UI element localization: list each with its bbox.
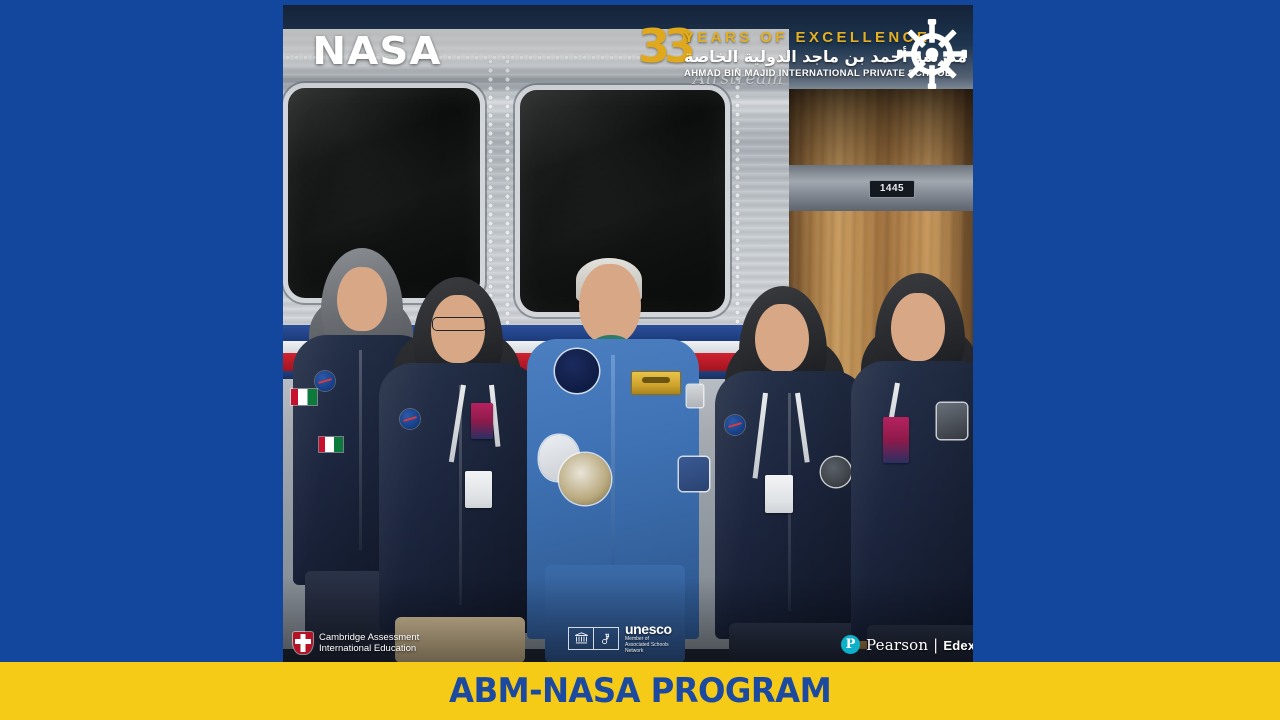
unesco-wordmark: unesco bbox=[625, 623, 672, 636]
ship-wheel-icon bbox=[897, 19, 967, 89]
id-badge bbox=[465, 471, 492, 508]
face bbox=[337, 267, 387, 331]
slide-canvas: 1445 Airstream bbox=[0, 0, 1280, 720]
cambridge-shield-icon bbox=[293, 632, 313, 654]
unesco-logo: unesco Member of Associated Schools Netw… bbox=[568, 623, 672, 654]
flag-patch bbox=[687, 385, 703, 407]
unesco-marks bbox=[568, 627, 619, 650]
conference-badge bbox=[471, 403, 493, 439]
mission-patch bbox=[555, 349, 599, 393]
face bbox=[579, 264, 641, 344]
anniversary-number: 33 bbox=[638, 25, 690, 67]
pearson-separator: | bbox=[933, 636, 938, 654]
conference-badge bbox=[883, 417, 909, 463]
mission-patch bbox=[559, 453, 611, 505]
nasa-meatball-patch bbox=[400, 409, 420, 429]
cambridge-assessment-logo: Cambridge Assessment International Educa… bbox=[293, 632, 419, 654]
program-title: ABM-NASA PROGRAM bbox=[449, 671, 831, 711]
face bbox=[755, 304, 809, 372]
pearson-qualification: Edexcel bbox=[943, 638, 973, 653]
program-photo: 1445 Airstream bbox=[283, 5, 973, 662]
unesco-subtitle: Member of Associated Schools Network bbox=[625, 636, 672, 654]
pearson-edexcel-logo: P Pearson | Edexcel bbox=[841, 635, 973, 654]
unesco-text: unesco Member of Associated Schools Netw… bbox=[625, 623, 672, 654]
rivet-column bbox=[505, 57, 510, 357]
eyeglasses bbox=[432, 317, 487, 331]
nasa-meatball-patch bbox=[725, 415, 745, 435]
trousers bbox=[729, 623, 857, 662]
unesco-temple-icon bbox=[569, 628, 593, 649]
rivet-column bbox=[735, 65, 740, 355]
astronaut-nametag bbox=[631, 371, 681, 395]
shoulder-patch bbox=[937, 403, 967, 439]
unesco-emblem-icon bbox=[593, 628, 618, 649]
pearson-name: Pearson bbox=[866, 636, 928, 654]
pearson-mark-icon: P bbox=[841, 635, 860, 654]
cambridge-line-2: International Education bbox=[319, 643, 419, 654]
pearson-label: Pearson | Edexcel bbox=[866, 636, 973, 654]
jacket-zipper bbox=[359, 350, 362, 550]
room-number-plate: 1445 bbox=[869, 180, 915, 198]
face bbox=[891, 293, 945, 361]
cambridge-line-1: Cambridge Assessment bbox=[319, 632, 419, 643]
cambridge-label: Cambridge Assessment International Educa… bbox=[319, 632, 419, 654]
shoulder-patch bbox=[679, 457, 709, 491]
id-badge bbox=[765, 475, 793, 513]
suit-zipper bbox=[611, 355, 615, 585]
nasa-wordmark: NASA bbox=[312, 29, 441, 73]
nasa-meatball-patch bbox=[315, 371, 335, 391]
wings-emblem-icon bbox=[642, 377, 670, 383]
anniversary-tagline: YEARS OF EXCELLENCE bbox=[684, 29, 930, 46]
program-banner: ABM-NASA PROGRAM bbox=[0, 662, 1280, 720]
oman-flag-patch bbox=[291, 389, 317, 405]
shoulder-patch bbox=[821, 457, 851, 487]
oman-flag-patch bbox=[319, 437, 343, 452]
